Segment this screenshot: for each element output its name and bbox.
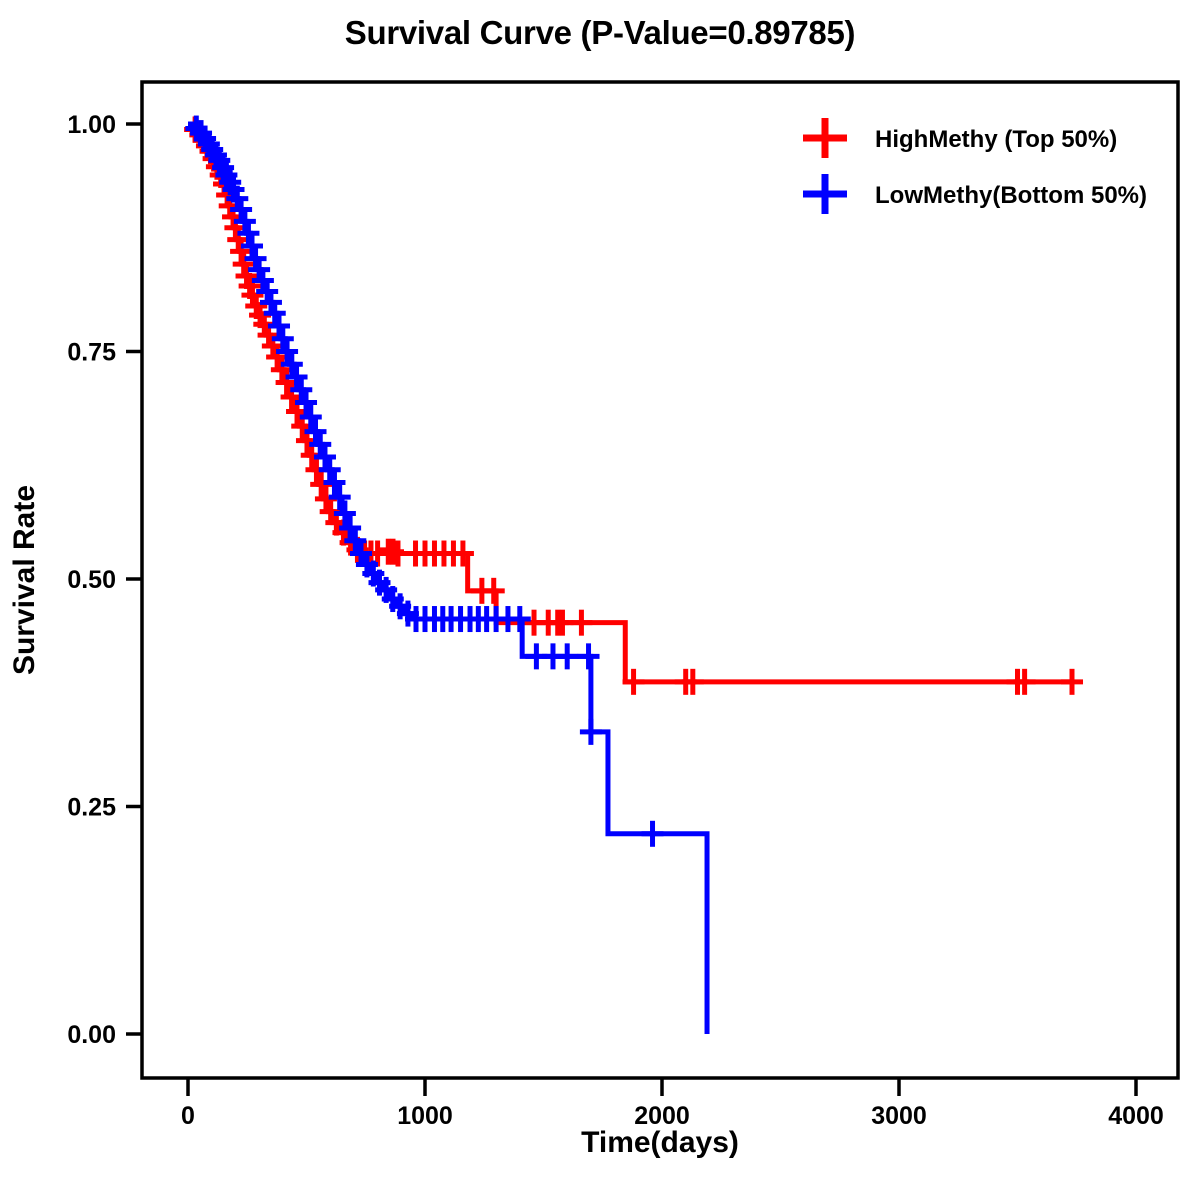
y-axis-ticks: 0.000.250.500.751.00 [67,111,142,1049]
legend-label: LowMethy(Bottom 50%) [875,182,1147,209]
y-tick-label: 1.00 [67,111,116,139]
legend-label: HighMethy (Top 50%) [875,126,1117,153]
y-tick-label: 0.25 [67,794,116,822]
survival-curve-figure: Survival Curve (P-Value=0.89785) 0.000.2… [0,0,1200,1200]
x-tick-label: 3000 [871,1102,927,1130]
y-tick-label: 0.50 [67,566,116,594]
x-tick-label: 1000 [397,1102,453,1130]
x-tick-label: 4000 [1108,1102,1164,1130]
plot-area: 0.000.250.500.751.00 01000200030004000 T… [0,0,1200,1200]
x-axis-title: Time(days) [581,1126,739,1159]
y-tick-label: 0.75 [67,339,116,367]
x-axis-ticks: 01000200030004000 [181,1078,1164,1130]
y-tick-label: 0.00 [67,1021,116,1049]
x-tick-label: 0 [181,1102,195,1130]
plot-frame [142,82,1178,1078]
y-axis-title: Survival Rate [8,485,41,675]
